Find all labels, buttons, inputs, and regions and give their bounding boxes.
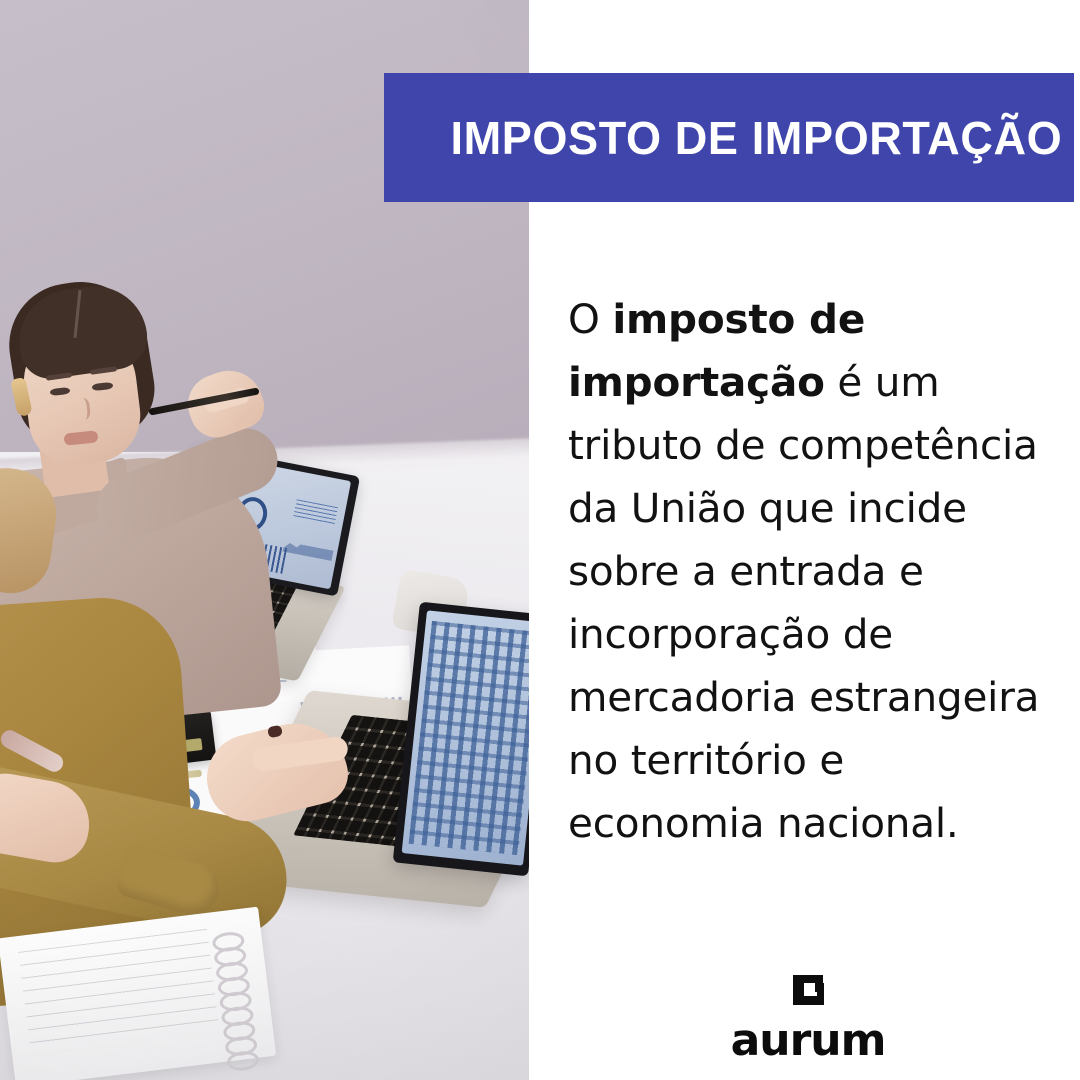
- body-rest-text: é um tributo de competência da União que…: [568, 358, 1039, 847]
- page-title: IMPOSTO DE IMPORTAÇÃO: [450, 115, 1062, 161]
- social-post-canvas: Accounting: [0, 0, 1080, 1080]
- body-lead-text: O: [568, 295, 612, 343]
- laptop-screen-area-chart: [282, 526, 336, 561]
- aurum-mark-icon: [793, 975, 831, 1013]
- mark-square-corner: [815, 983, 824, 992]
- brand-logo: aurum: [733, 975, 883, 1063]
- brand-wordmark: aurum: [731, 1019, 886, 1063]
- laptop-screen-text-rows: [293, 499, 338, 525]
- photo-person-back-nose: [73, 397, 91, 421]
- body-paragraph: O imposto de importação é um tributo de …: [568, 288, 1048, 855]
- body-emphasis-text: imposto de importação: [568, 295, 865, 406]
- laptop-screen-spreadsheet-grid: [409, 621, 529, 855]
- title-banner: IMPOSTO DE IMPORTAÇÃO: [384, 73, 1074, 202]
